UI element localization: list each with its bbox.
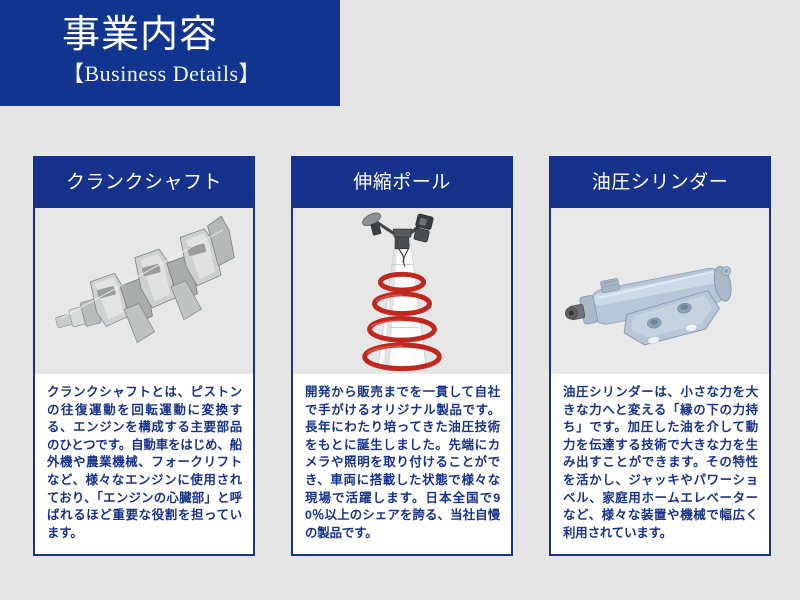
product-card-hydraulic-cylinder[interactable]: 油圧シリンダー	[549, 156, 771, 556]
crankshaft-illustration	[35, 208, 253, 374]
product-card-body: 油圧シリンダーは、小さな力を大きな力へと変える「縁の下の力持ち」です。加圧した油…	[551, 374, 769, 554]
product-card-telescopic-pole[interactable]: 伸縮ポール	[291, 156, 513, 556]
product-card-title: クランクシャフト	[35, 158, 253, 208]
product-card-grid: クランクシャフト	[33, 156, 771, 556]
product-card-title: 伸縮ポール	[293, 158, 511, 208]
header-banner: 事業内容 【Business Details】	[0, 0, 340, 106]
hydraulic-cylinder-illustration	[551, 208, 769, 374]
crankshaft-photo	[35, 208, 253, 374]
telescopic-pole-photo	[293, 208, 511, 374]
product-card-body: 開発から販売までを一貫して自社で手がけるオリジナル製品です。長年にわたり培ってき…	[293, 374, 511, 554]
product-description: 油圧シリンダーは、小さな力を大きな力へと変える「縁の下の力持ち」です。加圧した油…	[563, 384, 758, 542]
product-card-body: クランクシャフトとは、ピストンの往復運動を回転運動に変換する、エンジンを構成する…	[35, 374, 253, 554]
hydraulic-cylinder-photo	[551, 208, 769, 374]
product-description: クランクシャフトとは、ピストンの往復運動を回転運動に変換する、エンジンを構成する…	[47, 384, 242, 542]
telescopic-pole-illustration	[293, 208, 511, 374]
product-description: 開発から販売までを一貫して自社で手がけるオリジナル製品です。長年にわたり培ってき…	[305, 384, 500, 542]
page-title-japanese: 事業内容	[62, 12, 340, 58]
product-card-crankshaft[interactable]: クランクシャフト	[33, 156, 255, 556]
product-card-title: 油圧シリンダー	[551, 158, 769, 208]
page-subtitle-english: 【Business Details】	[62, 59, 340, 89]
